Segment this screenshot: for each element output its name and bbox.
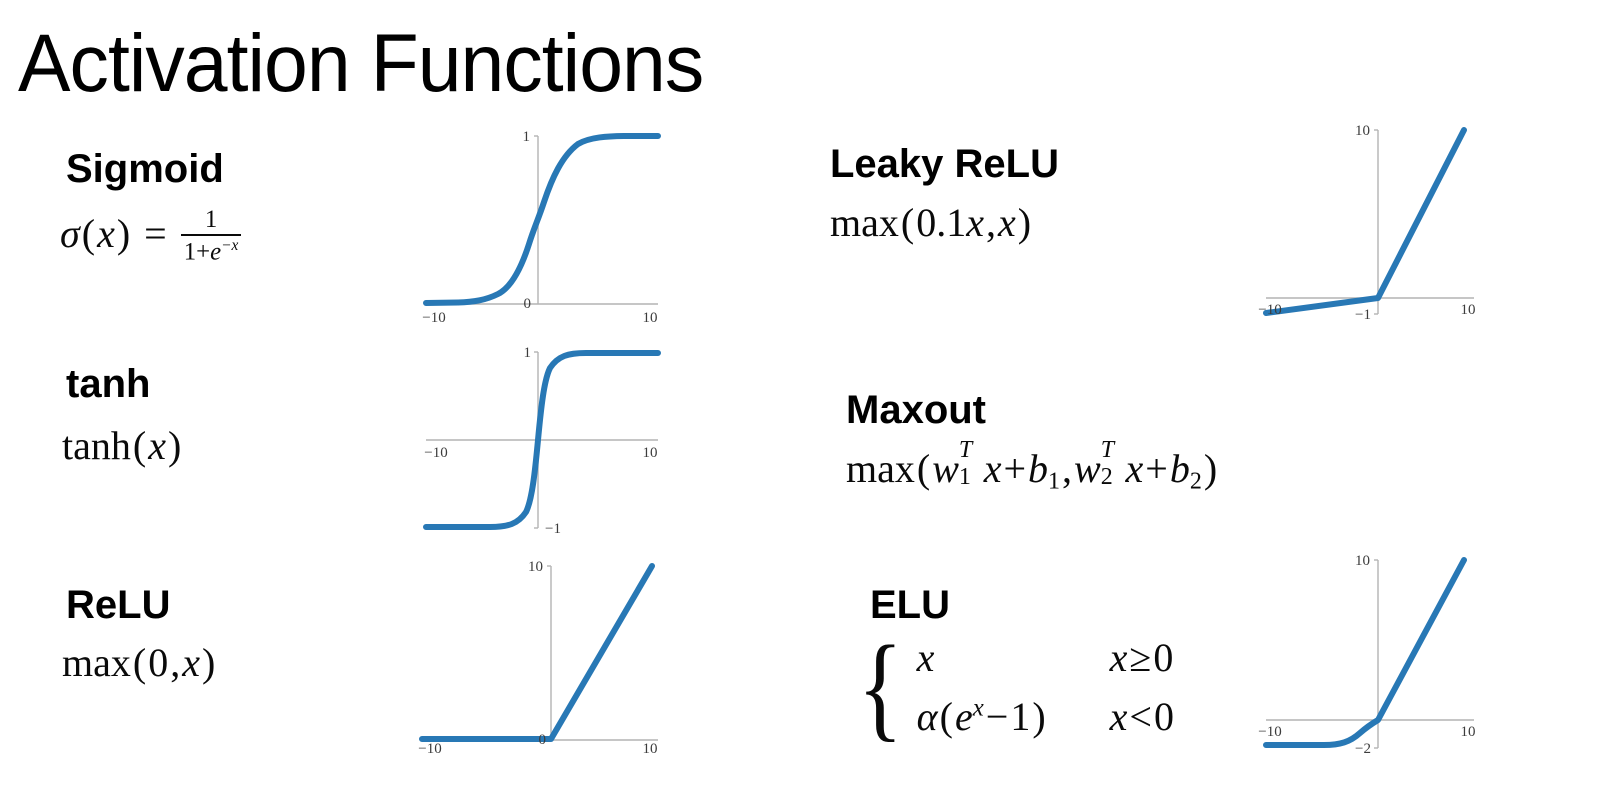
den-exponent: −x	[221, 237, 238, 254]
elu-cases-table: x x≥0 α(ex−1) x<0	[917, 628, 1174, 746]
y-tick-label-10: 10	[1355, 123, 1370, 139]
rparen: )	[115, 211, 132, 256]
lparen: (	[915, 446, 932, 491]
case2-minus: −	[984, 694, 1011, 739]
function-formula-relu: max(0,x)	[62, 640, 217, 686]
bias-b1: b	[1028, 446, 1048, 491]
comma: ,	[168, 640, 182, 685]
fraction-numerator: 1	[181, 206, 242, 234]
x-tick-label-max: 10	[643, 445, 658, 461]
x-tick-label-max: 10	[1461, 724, 1476, 740]
elu-curve	[1266, 560, 1464, 745]
x-tick-label-min: −10	[424, 445, 447, 461]
elu-plot: 10 −2 −10 10	[1190, 546, 1480, 756]
tanh-plot-svg: 1 −1 −10 10	[412, 340, 664, 540]
relu-plot: 10 0 −10 10	[402, 548, 664, 753]
fraction: 1 1+e−x	[181, 206, 242, 266]
den-one: 1	[184, 238, 196, 265]
tanh-plot: 1 −1 −10 10	[412, 340, 664, 540]
y-tick-label-10: 10	[1355, 553, 1370, 569]
comma: ,	[1060, 446, 1074, 491]
coefficient: 0.1	[916, 200, 966, 245]
lparen: (	[131, 640, 148, 685]
case1-cond-op: ≥	[1127, 635, 1153, 680]
case2-e: e	[955, 694, 973, 739]
function-formula-maxout: max(wT1x+b1,wT2x+b2)	[846, 442, 1219, 505]
den-plus: +	[196, 238, 210, 265]
weight-w2: w	[1074, 446, 1101, 491]
case2-exponent: x	[973, 695, 984, 722]
elu-plot-svg: 10 −2 −10 10	[1190, 546, 1480, 756]
function-name-relu: ReLU	[66, 583, 170, 627]
x-tick-label-min: −10	[418, 741, 441, 753]
leaky-relu-plot: 10 −1 −10 10	[1190, 118, 1480, 323]
variable-x-1: x	[966, 200, 984, 245]
w2-indices: T2	[1101, 442, 1126, 482]
case2-cond-num: 0	[1154, 694, 1174, 739]
variable-x: x	[97, 211, 115, 256]
tanh-operator: tanh	[62, 423, 131, 468]
b1-subscript: 1	[1048, 469, 1060, 495]
case2-cond-op: <	[1127, 694, 1154, 739]
den-e: e	[210, 238, 221, 265]
y-tick-label-neg1: −1	[1355, 307, 1371, 323]
y-tick-label-0: 0	[524, 296, 532, 312]
sigma-symbol: σ	[60, 211, 80, 256]
variable-x: x	[182, 640, 200, 685]
slide-root: Activation Functions Sigmoid σ(x) = 1 1+…	[0, 0, 1600, 804]
x-tick-label-min: −10	[1258, 302, 1281, 318]
left-brace: {	[858, 640, 903, 734]
case1-x: x	[917, 635, 935, 680]
y-tick-label-1: 1	[524, 345, 532, 361]
w1-indices: T1	[959, 442, 984, 482]
case2-cond-var: x	[1110, 694, 1128, 739]
bias-b2: b	[1170, 446, 1190, 491]
y-tick-label-neg2: −2	[1355, 741, 1371, 756]
sigmoid-plot: 1 0 −10 10	[412, 122, 664, 327]
sigmoid-plot-svg: 1 0 −10 10	[412, 122, 664, 327]
x-tick-label-max: 10	[643, 741, 658, 753]
w1-subscript-1: 1	[959, 454, 971, 500]
leaky-relu-plot-svg: 10 −1 −10 10	[1190, 118, 1480, 323]
x-tick-label-min: −10	[1258, 724, 1281, 740]
function-name-tanh: tanh	[66, 362, 150, 406]
plus-2: +	[1143, 446, 1170, 491]
elu-case-2-value: α(ex−1)	[917, 687, 1048, 746]
rparen: )	[200, 640, 217, 685]
elu-case-1-value: x	[917, 628, 1048, 687]
elu-case-row-1: x x≥0	[917, 628, 1174, 687]
case2-lparen: (	[938, 694, 955, 739]
fraction-denominator: 1+e−x	[181, 234, 242, 266]
sigmoid-curve	[426, 136, 658, 303]
elu-case-row-2: α(ex−1) x<0	[917, 687, 1174, 746]
relu-curve	[422, 566, 652, 739]
lparen: (	[131, 423, 148, 468]
case1-cond-var: x	[1110, 635, 1128, 680]
function-formula-sigmoid: σ(x) = 1 1+e−x	[60, 208, 243, 268]
rparen: )	[1016, 200, 1033, 245]
max-operator: max	[846, 446, 915, 491]
lparen: (	[80, 211, 97, 256]
rparen: )	[166, 423, 183, 468]
plus-1: +	[1001, 446, 1028, 491]
y-tick-label-0: 0	[539, 732, 547, 748]
w2-subscript-2: 2	[1101, 454, 1113, 500]
case1-cond-num: 0	[1153, 635, 1173, 680]
function-formula-elu: { x x≥0 α(ex−1) x<0	[852, 628, 1174, 746]
function-formula-tanh: tanh(x)	[62, 423, 183, 469]
x-tick-label-max: 10	[1461, 302, 1476, 318]
case2-alpha: α	[917, 694, 938, 739]
variable-x: x	[148, 423, 166, 468]
b2-subscript: 2	[1190, 469, 1202, 495]
variable-x-2: x	[1126, 446, 1144, 491]
function-name-maxout: Maxout	[846, 388, 986, 432]
max-operator: max	[62, 640, 131, 685]
y-tick-label-10: 10	[528, 559, 543, 575]
equals-sign: =	[142, 211, 169, 256]
x-tick-label-min: −10	[422, 310, 445, 326]
leaky-relu-curve	[1266, 130, 1464, 313]
function-formula-leaky-relu: max(0.1x,x)	[830, 200, 1033, 246]
weight-w1: w	[932, 446, 959, 491]
lparen: (	[899, 200, 916, 245]
case2-one: 1	[1010, 694, 1030, 739]
y-tick-label-1: 1	[523, 129, 531, 145]
elu-case-2-condition: x<0	[1048, 687, 1174, 746]
function-name-sigmoid: Sigmoid	[66, 147, 224, 191]
max-operator: max	[830, 200, 899, 245]
x-tick-label-max: 10	[643, 310, 658, 326]
case2-rparen: )	[1030, 694, 1047, 739]
rparen: )	[1202, 446, 1219, 491]
variable-x-2: x	[998, 200, 1016, 245]
variable-x-1: x	[984, 446, 1002, 491]
elu-case-1-condition: x≥0	[1048, 628, 1174, 687]
relu-plot-svg: 10 0 −10 10	[402, 548, 664, 753]
function-name-leaky-relu: Leaky ReLU	[830, 142, 1059, 186]
constant-zero: 0	[148, 640, 168, 685]
y-tick-label-neg1: −1	[545, 521, 561, 537]
comma: ,	[984, 200, 998, 245]
page-title: Activation Functions	[18, 20, 703, 108]
